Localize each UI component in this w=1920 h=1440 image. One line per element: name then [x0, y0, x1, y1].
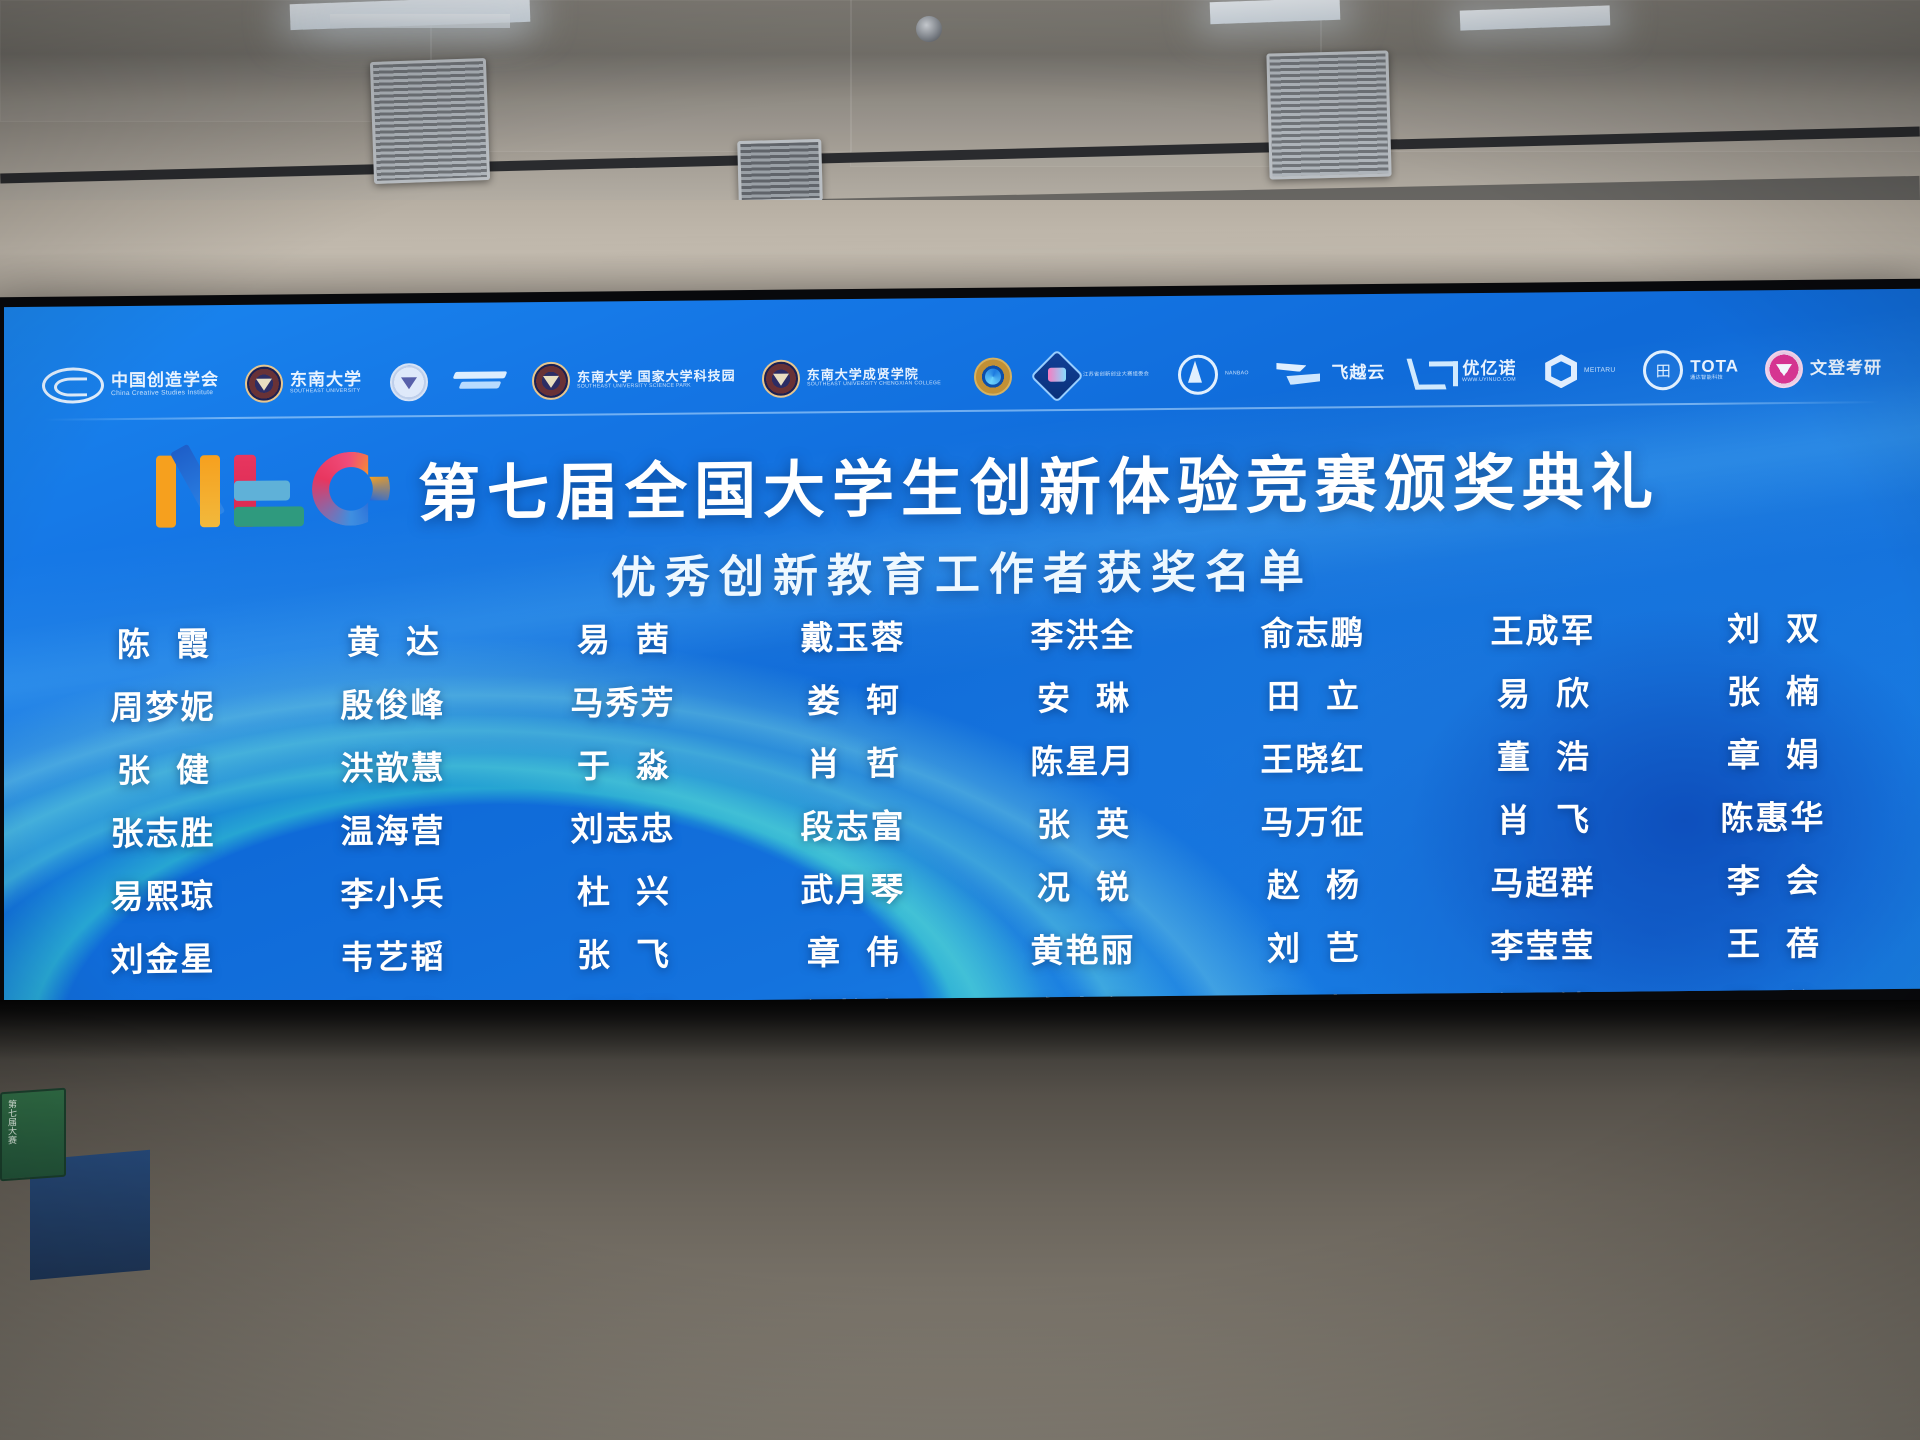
- awardee-name: 马超群: [1428, 855, 1658, 910]
- wing-v-logo-icon: [454, 367, 506, 395]
- chengxian-seal-icon: [762, 360, 800, 398]
- awardee-name-grid: 陈霞黄达易茜戴玉蓉李洪全俞志鹏王成军刘双周梦妮殷俊峰马秀芳娄轲安琳田立易欣张楠张…: [48, 601, 1888, 1007]
- feiyueyun-arrow-icon: [1276, 359, 1324, 389]
- led-screen-bezel: 中国创造学会 China Creative Studies Institute …: [0, 279, 1920, 1020]
- awardee-name: 陈惠华: [1658, 790, 1888, 845]
- sponsor-name-cn: TOTA: [1690, 358, 1739, 376]
- awardee-name: 段志富: [738, 799, 968, 854]
- sponsor-name-en: 江苏省创新创业大赛组委会: [1083, 372, 1149, 378]
- sponsor-logo-tota: TOTA 通达智能科技: [1643, 350, 1739, 391]
- awardee-name: 周梦妮: [48, 680, 278, 735]
- sponsor-name-en: SOUTHEAST UNIVERSITY CHENGXIAN COLLEGE: [807, 381, 941, 388]
- awardee-name: 武月琴: [738, 862, 968, 917]
- awardee-name: 李莹莹: [1428, 918, 1658, 973]
- sponsor-logo-diamond: 江苏省创新创业大赛组委会: [1038, 356, 1153, 395]
- nec-logo: [156, 451, 390, 527]
- sponsor-name-cn: 优亿诺: [1462, 360, 1519, 378]
- awardee-name: 李小兵: [278, 866, 508, 921]
- awardee-name: 刘金星: [48, 932, 278, 987]
- conference-hall-photo: 中国创造学会 China Creative Studies Institute …: [0, 0, 1920, 1440]
- awardee-name: 刘双: [1658, 601, 1888, 656]
- sponsor-logo-nanbao: NANBAO: [1178, 354, 1250, 395]
- awardee-name: 娄轲: [738, 673, 968, 728]
- csi-oval-icon: [42, 367, 104, 404]
- awardee-name: 章娟: [1658, 727, 1888, 782]
- awardee-name: 韦艺韬: [278, 929, 508, 984]
- awardee-name: 刘芑: [1198, 921, 1428, 976]
- awardee-name: 易茜: [508, 612, 738, 667]
- meitaru-icon: [1545, 354, 1577, 388]
- awardee-name: 张英: [968, 797, 1198, 852]
- led-screen: 中国创造学会 China Creative Studies Institute …: [4, 289, 1920, 1007]
- sponsor-name-en: 通达智能科技: [1690, 376, 1736, 382]
- sponsor-logo-wendeng: 文登考研: [1765, 349, 1882, 388]
- awardee-name: 张健: [48, 743, 278, 798]
- floor: [0, 1000, 1920, 1440]
- air-vent: [737, 139, 823, 203]
- awardee-name: 杜兴: [508, 864, 738, 919]
- title-row: 第七届全国大学生创新体验竞赛颁奖典礼: [4, 429, 1920, 537]
- tota-ring-icon: [1643, 350, 1683, 390]
- awardee-name: 于淼: [508, 738, 738, 793]
- awardee-name: 张楠: [1658, 664, 1888, 719]
- sponsor-name-en: SOUTHEAST UNIVERSITY SCIENCE PARK: [577, 383, 728, 390]
- sponsor-name-cn: 东南大学: [290, 371, 364, 390]
- awardee-name: 俞志鹏: [1198, 606, 1428, 661]
- awardee-name: 章伟: [738, 925, 968, 980]
- awardee-name: 马秀芳: [508, 675, 738, 730]
- awardee-name: 戴玉蓉: [738, 610, 968, 665]
- awardee-name: 陈霞: [48, 617, 278, 672]
- awardee-name: 张飞: [508, 927, 738, 982]
- sponsor-name-en: MEITARU: [1584, 367, 1615, 374]
- awardee-name: 赵杨: [1198, 858, 1428, 913]
- awardee-name: 肖飞: [1428, 792, 1658, 847]
- sprinkler-head: [916, 16, 942, 42]
- sponsor-logo-seu: 东南大学 SOUTHEAST UNIVERSITY: [245, 364, 364, 403]
- wendeng-seal-icon: [1765, 350, 1803, 388]
- floor-standing-sign: 第七届大赛: [0, 1088, 66, 1182]
- awardee-name: 李会: [1658, 853, 1888, 908]
- seu-seal-icon: [245, 364, 283, 402]
- awardee-name: 黄达: [278, 614, 508, 669]
- awardee-name: 王晓红: [1198, 732, 1428, 787]
- nanbao-ring-icon: [1178, 355, 1218, 395]
- diamond-badge-icon: [1038, 357, 1076, 395]
- air-vent: [1266, 50, 1391, 179]
- awardee-name: 温海营: [278, 803, 508, 858]
- awardee-name: 殷俊峰: [278, 677, 508, 732]
- sponsor-logo-wing: [454, 367, 506, 395]
- nec-letter-n-icon: [156, 455, 230, 528]
- awardee-name: 王蓓: [1658, 916, 1888, 971]
- awardee-name: 洪歆慧: [278, 740, 508, 795]
- awardee-name: 李洪全: [968, 608, 1198, 663]
- awardee-name: 况锐: [968, 860, 1198, 915]
- awardee-name: 易欣: [1428, 666, 1658, 721]
- sponsor-logo-csi: 中国创造学会 China Creative Studies Institute: [42, 366, 219, 404]
- air-vent: [370, 58, 490, 184]
- gold-seal-icon: [974, 358, 1012, 396]
- sponsor-logo-science-park: 东南大学 国家大学科技园 SOUTHEAST UNIVERSITY SCIENC…: [532, 360, 736, 400]
- nec-letter-c-icon: [312, 451, 390, 526]
- uyinuo-mark-icon: [1411, 358, 1455, 386]
- sponsor-name-en: WWW.UYINUO.COM: [1462, 378, 1516, 384]
- sponsor-name-cn: 中国创造学会: [111, 372, 219, 391]
- sponsor-name-en: SOUTHEAST UNIVERSITY: [290, 389, 360, 395]
- awardee-name: 易熙琼: [48, 869, 278, 924]
- science-park-icon: [532, 362, 570, 400]
- sponsor-logo-chengxian: 东南大学成贤学院 SOUTHEAST UNIVERSITY CHENGXIAN …: [762, 358, 948, 398]
- awardee-name: 王成军: [1428, 603, 1658, 658]
- awardee-name: 董浩: [1428, 729, 1658, 784]
- floor-shadow: [0, 1000, 1920, 1060]
- nec-letter-e-icon: [234, 454, 318, 527]
- awardee-name: 张志胜: [48, 806, 278, 861]
- sponsor-name-cn: 飞越云: [1331, 364, 1385, 382]
- ceiling-light: [330, 14, 510, 28]
- floor-sign-text: 第七届大赛: [2, 1093, 21, 1151]
- university-emblem-icon: [390, 363, 428, 401]
- sponsor-name-cn: 文登考研: [1810, 359, 1882, 378]
- awardee-name: 陈星月: [968, 734, 1198, 789]
- awardee-name: 田立: [1198, 669, 1428, 724]
- awardee-name: 刘志忠: [508, 801, 738, 856]
- awardee-name: 安琳: [968, 671, 1198, 726]
- sponsor-logo-uyinuo: 优亿诺 WWW.UYINUO.COM: [1411, 358, 1519, 387]
- sponsor-logo-feiyueyun: 飞越云: [1276, 358, 1385, 389]
- awardee-name: 马万征: [1198, 795, 1428, 850]
- sponsor-name-en: China Creative Studies Institute: [111, 390, 214, 398]
- sponsor-logo-university-emblem: [390, 363, 428, 401]
- sponsor-logo-gold-seal: [974, 358, 1012, 396]
- awardee-name: 肖哲: [738, 736, 968, 791]
- sponsor-name-en: NANBAO: [1225, 371, 1249, 377]
- page-title: 第七届全国大学生创新体验竞赛颁奖典礼: [418, 431, 1660, 533]
- awardee-name: 黄艳丽: [968, 923, 1198, 978]
- sponsor-logo-meitaru: MEITARU: [1545, 354, 1617, 389]
